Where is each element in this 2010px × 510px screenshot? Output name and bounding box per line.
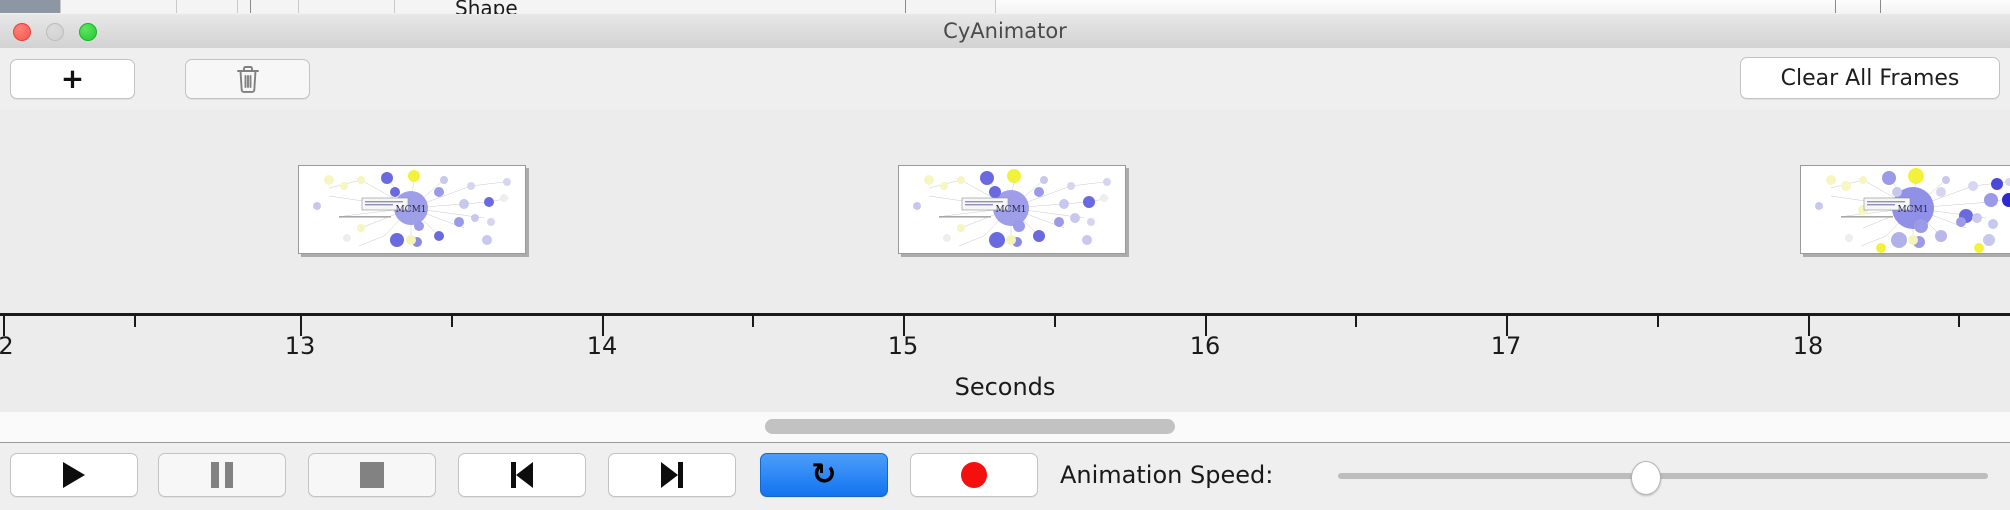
cyanimator-window: Shape CyAnimator + Clear All Frames bbox=[0, 0, 2010, 510]
axis-tick-label: 17 bbox=[1491, 332, 1522, 360]
record-button[interactable] bbox=[910, 453, 1038, 497]
delete-frame-button[interactable] bbox=[185, 59, 310, 99]
timeline-panel[interactable]: MCM1 bbox=[0, 110, 2010, 413]
toolbar: + Clear All Frames bbox=[0, 48, 2010, 111]
bg-segment bbox=[299, 0, 395, 13]
axis-title: Seconds bbox=[0, 373, 2010, 401]
plus-icon: + bbox=[61, 65, 84, 93]
stop-icon bbox=[360, 462, 384, 488]
frame-thumbnail[interactable]: MCM1 bbox=[298, 165, 526, 254]
title-bar[interactable]: CyAnimator bbox=[0, 14, 2010, 49]
axis-tick-label: 2 bbox=[0, 332, 14, 360]
axis-tick-label: 13 bbox=[285, 332, 316, 360]
axis-tick-minor bbox=[1657, 316, 1659, 327]
animation-speed-label: Animation Speed: bbox=[1060, 453, 1273, 497]
play-icon bbox=[63, 462, 85, 488]
frame-thumbnail[interactable]: MCM1 bbox=[1800, 165, 2010, 254]
next-frame-button[interactable] bbox=[608, 453, 736, 497]
bg-tick bbox=[250, 0, 251, 13]
loop-button[interactable]: ↻ bbox=[760, 453, 888, 497]
clear-all-frames-label: Clear All Frames bbox=[1781, 66, 1960, 91]
bg-tick bbox=[1835, 0, 1836, 13]
axis-tick-minor bbox=[1355, 316, 1357, 327]
axis-tick-minor bbox=[134, 316, 136, 327]
pause-button[interactable] bbox=[158, 453, 286, 497]
bg-segment bbox=[61, 0, 177, 13]
axis-tick-minor bbox=[451, 316, 453, 327]
loop-icon: ↻ bbox=[811, 460, 836, 490]
animation-speed-slider-thumb[interactable] bbox=[1631, 461, 1661, 495]
stop-button[interactable] bbox=[308, 453, 436, 497]
trash-icon bbox=[235, 64, 261, 94]
axis-tick-label: 14 bbox=[587, 332, 618, 360]
axis-tick-label: 15 bbox=[888, 332, 919, 360]
axis-tick-minor bbox=[1958, 316, 1960, 327]
svg-text:MCM1: MCM1 bbox=[1897, 205, 1928, 215]
record-icon bbox=[961, 462, 987, 488]
scrollbar-thumb[interactable] bbox=[765, 419, 1175, 434]
background-window-sliver: Shape bbox=[0, 0, 2010, 15]
page-title: CyAnimator bbox=[0, 14, 2010, 48]
axis-tick-minor bbox=[1054, 316, 1056, 327]
playback-controls: ↻ Animation Speed: bbox=[0, 443, 2010, 510]
bg-segment bbox=[177, 0, 238, 13]
axis-tick-label: 16 bbox=[1190, 332, 1221, 360]
clear-all-frames-button[interactable]: Clear All Frames bbox=[1740, 57, 2000, 99]
animation-speed-slider[interactable] bbox=[1338, 473, 1988, 479]
skip-forward-icon bbox=[661, 462, 683, 488]
svg-text:MCM1: MCM1 bbox=[395, 205, 426, 215]
svg-text:MCM1: MCM1 bbox=[995, 205, 1026, 215]
frame-thumbnail[interactable]: MCM1 bbox=[898, 165, 1126, 254]
background-window-label: Shape bbox=[455, 0, 518, 15]
axis-tick-label: 18 bbox=[1793, 332, 1824, 360]
skip-back-icon bbox=[511, 462, 533, 488]
timeline-scrollbar[interactable] bbox=[0, 412, 2010, 443]
bg-tick bbox=[905, 0, 906, 13]
play-button[interactable] bbox=[10, 453, 138, 497]
bg-tick bbox=[1880, 0, 1881, 13]
axis-tick-minor bbox=[752, 316, 754, 327]
add-frame-button[interactable]: + bbox=[10, 59, 135, 99]
bg-segment bbox=[238, 0, 299, 13]
pause-icon bbox=[211, 462, 233, 488]
previous-frame-button[interactable] bbox=[458, 453, 586, 497]
bg-segment bbox=[0, 0, 61, 13]
